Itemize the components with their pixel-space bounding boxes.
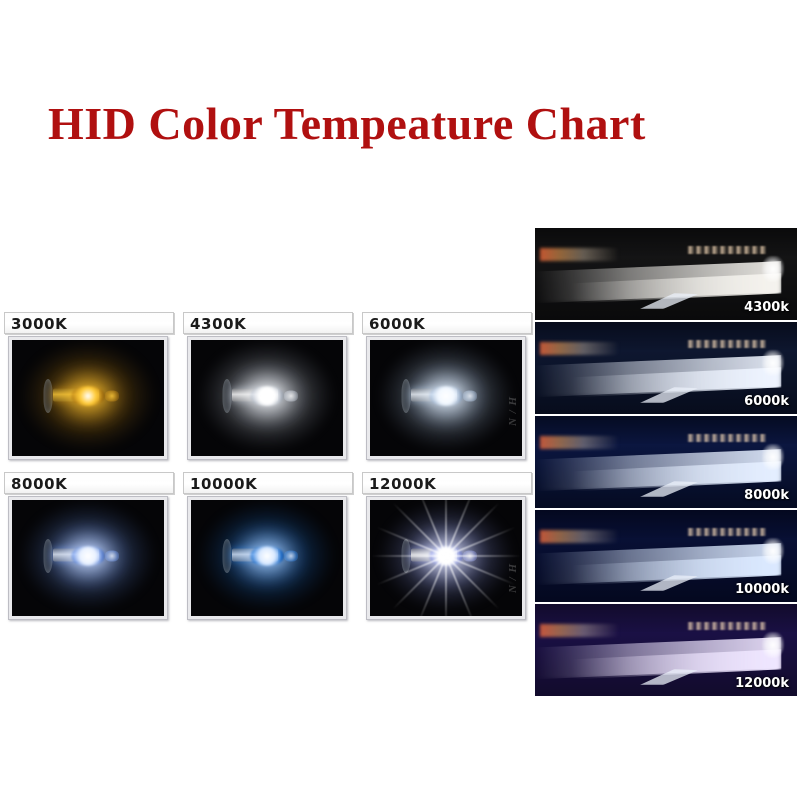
bulb-photo [370,500,522,616]
beam-distant-lights [687,434,766,441]
beam-pattern-column: 4300k6000k8000k10000k12000k [535,228,797,696]
bulb-card[interactable]: 3000K [4,312,178,467]
bulb-photo-frame [366,496,526,620]
bulb-photo-frame [187,336,347,460]
bulb-tip [105,550,119,561]
beam-distant-lights [687,340,766,347]
bulb-photo-frame [8,496,168,620]
bulb-arc-core [71,546,105,566]
beam-headlight-source [762,444,784,470]
bulb-photo [191,340,343,456]
bulb-label-bar: 3000K [4,312,174,334]
bulb-tip [284,390,298,401]
bulb-reflector-base [223,379,232,413]
beam-distant-lights [687,622,766,629]
bulb-tip [105,390,119,401]
beam-headlight-source [762,632,784,658]
bulb-arc-core [71,386,105,406]
bulb-card[interactable]: 6000K [362,312,536,467]
bulb-reflector-base [44,379,53,413]
bulb-arc-core [429,546,463,566]
beam-temperature-label: 4300k [744,300,789,315]
bulb-arc-core [429,386,463,406]
bulb-photo-frame [8,336,168,460]
beam-card[interactable]: 12000k [535,604,797,696]
bulb-photo [12,340,164,456]
beam-horizon-city-lights [540,530,619,543]
beam-temperature-label: 6000k [744,394,789,409]
beam-horizon-city-lights [540,436,619,449]
bulb-label-bar: 10000K [183,472,353,494]
bulb-temperature-label: 8000K [11,475,67,493]
bulb-arc-core [250,386,284,406]
beam-temperature-label: 10000k [735,582,789,597]
bulb-tip [284,550,298,561]
bulb-photo-frame [366,336,526,460]
beam-distant-lights [687,528,766,535]
beam-horizon-city-lights [540,342,619,355]
beam-distant-lights [687,246,766,253]
beam-horizon-city-lights [540,248,619,261]
bulb-photo [191,500,343,616]
beam-headlight-source [762,256,784,282]
beam-card[interactable]: 4300k [535,228,797,320]
bulb-temperature-label: 12000K [369,475,436,493]
bulb-temperature-label: 6000K [369,315,425,333]
bulb-reflector-base [223,539,232,573]
beam-headlight-source [762,538,784,564]
beam-horizon-city-lights [540,624,619,637]
beam-headlight-source [762,350,784,376]
bulb-label-bar: 8000K [4,472,174,494]
beam-card[interactable]: 10000k [535,510,797,602]
bulb-label-bar: 12000K [362,472,532,494]
bulb-card[interactable]: 10000K [183,472,357,627]
beam-card[interactable]: 6000k [535,322,797,414]
beam-temperature-label: 12000k [735,676,789,691]
bulb-temperature-label: 10000K [190,475,257,493]
bulb-reflector-base [402,379,411,413]
bulb-photo-frame [187,496,347,620]
bulb-tip [463,550,477,561]
beam-card[interactable]: 8000k [535,416,797,508]
beam-temperature-label: 8000k [744,488,789,503]
bulb-arc-core [250,546,284,566]
bulb-card[interactable]: 4300K [183,312,357,467]
bulb-card[interactable]: 12000K [362,472,536,627]
bulb-label-bar: 4300K [183,312,353,334]
bulb-comparison-grid: 3000K4300K6000K8000K10000K12000K [4,312,536,632]
bulb-card[interactable]: 8000K [4,472,178,627]
bulb-temperature-label: 4300K [190,315,246,333]
bulb-temperature-label: 3000K [11,315,67,333]
bulb-photo [12,500,164,616]
bulb-reflector-base [402,539,411,573]
bulb-tip [463,390,477,401]
bulb-photo [370,340,522,456]
bulb-reflector-base [44,539,53,573]
page-title: HID Color Tempeature Chart [48,95,768,153]
bulb-label-bar: 6000K [362,312,532,334]
